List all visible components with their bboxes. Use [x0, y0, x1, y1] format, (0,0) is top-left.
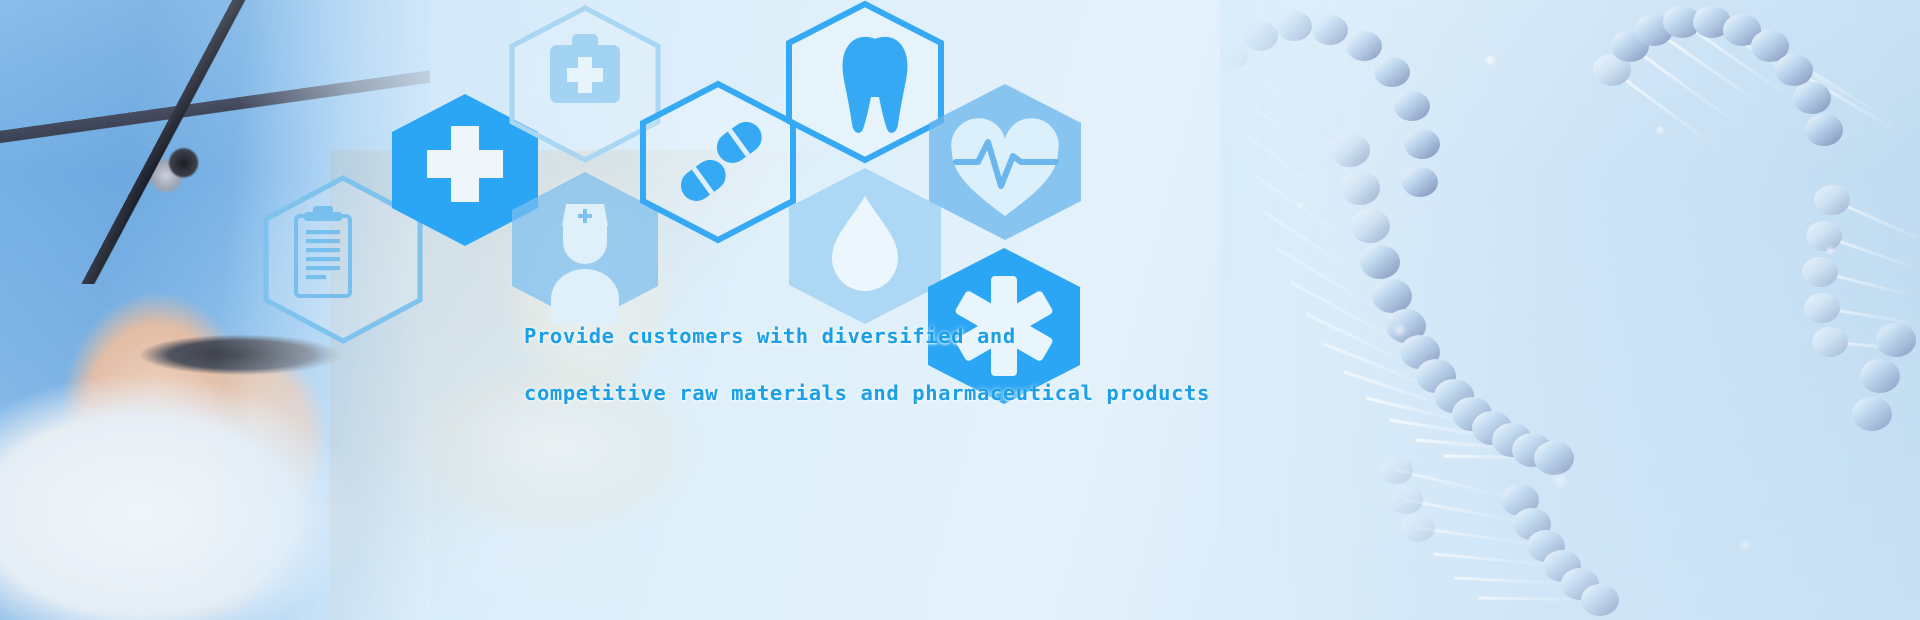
tagline-line-1: Provide customers with diversified and	[524, 326, 1224, 347]
medical-banner: Provide customers with diversified and c…	[0, 0, 1920, 620]
hexagon-heart-pulse[interactable]	[929, 84, 1081, 240]
hexagon-icon-cluster	[0, 0, 1920, 620]
tagline-line-2: competitive raw materials and pharmaceut…	[524, 383, 1224, 404]
pills-hexagon-outline	[643, 84, 793, 240]
hexagon-water-drop[interactable]	[789, 168, 941, 324]
hexagon-pills[interactable]	[643, 84, 793, 240]
hexagon-tooth[interactable]	[789, 4, 941, 160]
tagline: Provide customers with diversified and c…	[524, 326, 1224, 403]
